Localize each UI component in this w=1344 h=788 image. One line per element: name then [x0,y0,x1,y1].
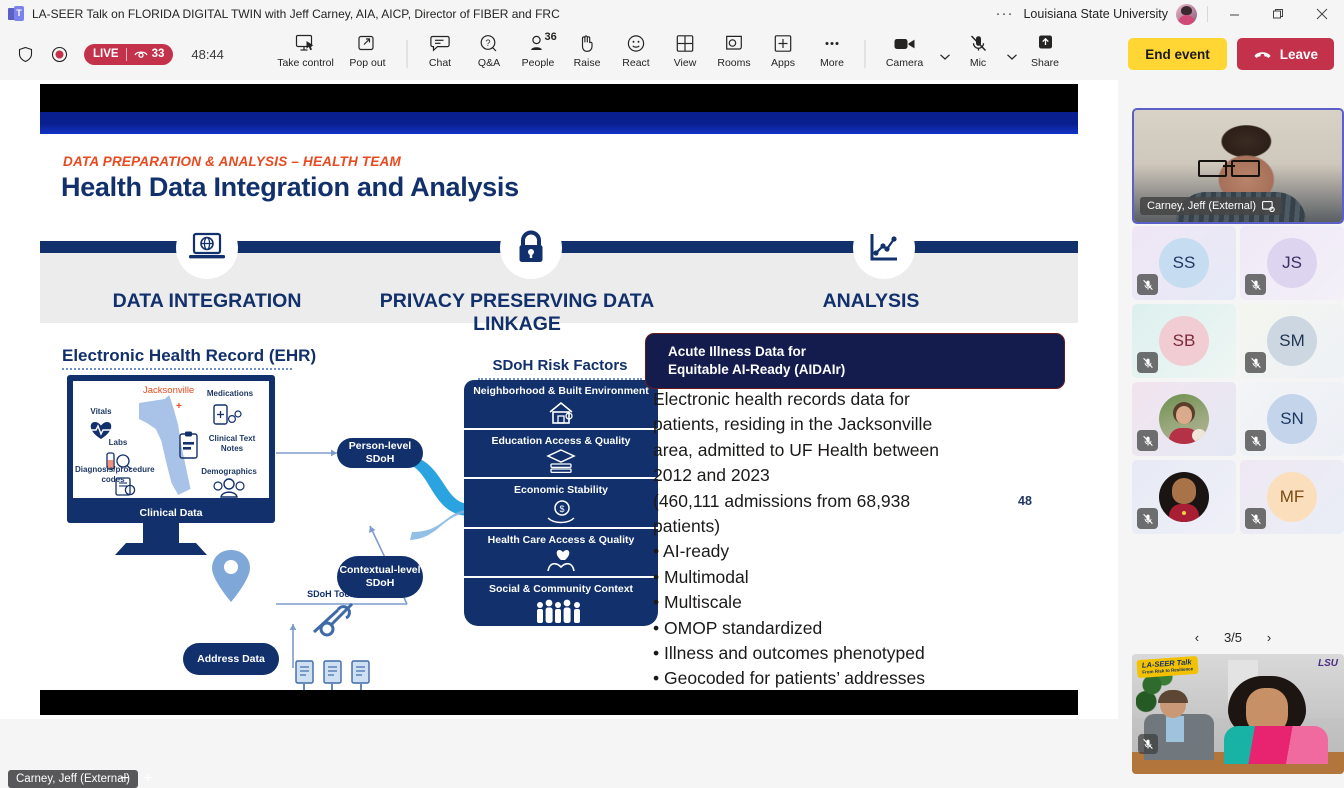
zoom-out-button[interactable]: − [120,770,129,788]
more-dots-icon [823,32,842,54]
sdoh-factor-economic: Economic Stability $ [464,479,658,527]
title-bar: T LA-SEER Talk on FLORIDA DIGITAL TWIN w… [0,0,1344,28]
qa-button[interactable]: ? Q&A [465,28,514,80]
live-badge[interactable]: LIVE 33 [84,44,173,65]
mic-muted-icon [1137,274,1158,295]
participant-row: SS JS [1132,226,1344,300]
participants-rail: Carney, Jeff (External) SS JS [1122,80,1344,719]
rooms-button[interactable]: Rooms [710,28,759,80]
sdoh-stack: Neighborhood & Built Environment Educati… [464,380,658,626]
toolbar-actions: Take control Pop out Chat ? Q&A [275,28,1070,80]
chat-label: Chat [429,57,451,69]
active-speaker-tile[interactable]: Carney, Jeff (External) [1132,108,1344,224]
raise-hand-button[interactable]: Raise [563,28,612,80]
svg-text:?: ? [485,38,490,48]
bullet-6: • Geocoded for patients’ addresses [653,666,1053,691]
participant-row: MF [1132,460,1344,534]
sdoh-toolkit-label: SDoH Toolkit [285,589,385,599]
avatar: SM [1267,316,1317,366]
bullet-label: OMOP standardized [664,618,822,638]
mic-muted-icon [1245,508,1266,529]
hangup-icon [1253,48,1272,60]
body-line-1: Electronic health records data for [653,387,1053,412]
mic-muted-icon [1138,734,1158,754]
sdoh-factor-label: Health Care Access & Quality [464,534,658,547]
meeting-toolbar: LIVE 33 48:44 Take control Pop ou [0,28,1344,80]
organization-label: Louisiana State University [1023,7,1176,21]
more-label: More [820,57,844,69]
avatar [1159,472,1209,522]
aidair-line-1: Acute Illness Data for [668,343,1064,361]
take-control-icon [295,32,316,54]
room-person-right [1224,676,1328,762]
screen-share-icon [1262,201,1275,212]
slide-page-number: 48 [1018,494,1032,508]
map-pin-icon [208,548,254,604]
pop-out-label: Pop out [349,57,385,69]
react-label: React [622,57,649,69]
bullet-1: • AI-ready [653,539,1053,564]
body-line-2: patients, residing in the Jacksonville [653,412,1053,437]
mic-muted-icon [1137,508,1158,529]
end-event-button[interactable]: End event [1128,38,1227,70]
camera-chevron-down-icon[interactable] [936,28,954,80]
leave-button[interactable]: Leave [1237,38,1334,70]
qa-label: Q&A [478,57,500,69]
share-button[interactable]: Share [1021,28,1070,80]
bullet-4: • OMOP standardized [653,616,1053,641]
aidair-line-2: Equitable AI-Ready (AIDAIr) [668,361,1064,379]
eye-icon [134,49,148,60]
hand-money-icon: $ [464,497,658,527]
mic-muted-icon [968,32,988,54]
qa-icon: ? [479,32,500,54]
raise-hand-icon [578,32,597,54]
react-icon [627,32,646,54]
sdoh-factor-label: Education Access & Quality [464,435,658,448]
zoom-controls: − + [120,770,153,788]
leave-label: Leave [1280,47,1318,62]
sdoh-factor-label: Economic Stability [464,484,658,497]
camera-button[interactable]: Camera [874,28,936,80]
avatar: JS [1267,238,1317,288]
camera-label: Camera [886,57,923,69]
share-up-icon [1035,32,1055,54]
rooms-label: Rooms [717,57,750,69]
people-group-icon [464,596,658,626]
body-line-5: (460,111 admissions from 68,938 [653,489,1053,514]
bullet-label: Multiscale [664,592,742,612]
mic-muted-icon [1137,352,1158,373]
mic-chevron-down-icon[interactable] [1003,28,1021,80]
pill-address-data: Address Data [183,643,279,675]
aidair-header-box: Acute Illness Data for Equitable AI-Read… [645,333,1065,389]
sdoh-factor-label: Social & Community Context [464,583,658,596]
speaker-name-text: Carney, Jeff (External) [1147,200,1256,212]
bullet-label: Illness and outcomes phenotyped [664,643,925,663]
sdoh-factor-label: Neighborhood & Built Environment [464,385,658,398]
avatar[interactable] [1176,4,1197,25]
title-overflow-icon[interactable]: ··· [985,9,1023,19]
people-button[interactable]: 36 People [514,28,563,80]
bullet-2: • Multimodal [653,565,1053,590]
bullet-label: Geocoded for patients’ addresses [664,668,925,688]
participant-tile[interactable] [1132,382,1236,456]
participant-tile[interactable]: SN [1240,382,1344,456]
speaker-name-label: Carney, Jeff (External) [1140,197,1282,215]
sdoh-factor-neighborhood: Neighborhood & Built Environment [464,380,658,428]
participant-tile[interactable] [1132,460,1236,534]
room-video-tile[interactable]: LA-SEER Talk From Risk to Resilience LSU [1132,654,1344,774]
svg-text:$: $ [559,504,564,514]
restore-icon[interactable] [1256,0,1300,28]
participant-tile[interactable]: SS [1132,226,1236,300]
pop-out-icon [358,32,378,54]
mic-muted-icon [1245,274,1266,295]
house-icon [464,398,658,428]
take-control-button[interactable]: Take control [275,28,337,80]
viewer-count: 33 [152,48,165,60]
pager-label: 3/5 [1224,630,1242,645]
divider [407,40,408,68]
bullet-label: AI-ready [663,541,729,561]
close-icon[interactable] [1300,0,1344,28]
apps-plus-icon [774,32,793,54]
participant-row: SB SM [1132,304,1344,378]
pager-next-icon[interactable]: › [1260,628,1278,646]
share-label: Share [1031,57,1059,69]
mic-label: Mic [970,57,986,69]
sdoh-title: SDoH Risk Factors [470,357,650,374]
presenter-name-chip: Carney, Jeff (External) [8,770,138,788]
participant-tile[interactable]: MF [1240,460,1344,534]
avatar: SN [1267,394,1317,444]
apps-button[interactable]: Apps [759,28,808,80]
mic-muted-icon [1137,430,1158,451]
share-letterbox-bottom [40,690,1078,715]
pop-out-button[interactable]: Pop out [337,28,399,80]
pill-person-level-sdoh: Person-level SDoH [337,438,423,468]
participant-tile[interactable]: SB [1132,304,1236,378]
live-label: LIVE [93,48,119,60]
aidair-body: Electronic health records data for patie… [653,387,1053,692]
divider [865,40,866,68]
bullet-label: Multimodal [664,567,749,587]
avatar: SS [1159,238,1209,288]
meeting-stage: DATA PREPARATION & ANALYSIS – HEALTH TEA… [0,80,1118,719]
meeting-timer: 48:44 [191,47,224,62]
people-count: 36 [545,31,557,43]
avatar: SB [1159,316,1209,366]
bullet-5: • Illness and outcomes phenotyped [653,641,1053,666]
participants-pager: ‹ 3/5 › [1122,628,1344,646]
public-databases-icon [284,657,384,692]
lsu-watermark: LSU [1318,658,1338,669]
record-icon[interactable] [44,39,74,69]
body-line-3: area, admitted to UF Health between [653,438,1053,463]
mic-muted-icon [1245,430,1266,451]
bullet-3: • Multiscale [653,590,1053,615]
react-button[interactable]: React [612,28,661,80]
avatar [1159,394,1209,444]
minimize-icon[interactable] [1212,0,1256,28]
people-label: People [522,57,555,69]
shared-screen[interactable]: DATA PREPARATION & ANALYSIS – HEALTH TEA… [40,84,1078,715]
teams-meeting-window: T LA-SEER Talk on FLORIDA DIGITAL TWIN w… [0,0,1344,719]
chat-icon [430,32,451,54]
more-button[interactable]: More [808,28,857,80]
view-grid-icon [676,32,695,54]
participant-tile[interactable]: JS [1240,226,1344,300]
participant-tile[interactable]: SM [1240,304,1344,378]
toolkit-icon [308,600,360,638]
hands-heart-icon [464,546,658,576]
graduation-books-icon [464,447,658,477]
apps-label: Apps [771,57,795,69]
divider [126,48,127,61]
teams-logo-icon: T [8,6,24,22]
view-button[interactable]: View [661,28,710,80]
glasses-icon [1198,160,1260,173]
body-line-6: patients) [653,514,1053,539]
shield-icon[interactable] [10,39,40,69]
avatar: MF [1267,472,1317,522]
mic-muted-icon [1245,352,1266,373]
sdoh-factor-healthcare: Health Care Access & Quality [464,529,658,577]
body-line-4: 2012 and 2023 [653,463,1053,488]
window-title: LA-SEER Talk on FLORIDA DIGITAL TWIN wit… [32,7,560,21]
take-control-label: Take control [277,57,334,69]
camera-on-icon [893,32,916,54]
participant-row: SN [1132,382,1344,456]
viewer-count-group: 33 [134,48,165,60]
raise-label: Raise [574,57,601,69]
chat-button[interactable]: Chat [416,28,465,80]
pager-prev-icon[interactable]: ‹ [1188,628,1206,646]
divider [1207,6,1208,22]
presentation-slide: DATA PREPARATION & ANALYSIS – HEALTH TEA… [40,112,1078,692]
rooms-icon [725,32,744,54]
view-label: View [674,57,697,69]
zoom-in-button[interactable]: + [143,770,152,788]
mic-button[interactable]: Mic [954,28,1003,80]
sdoh-factor-social: Social & Community Context [464,578,658,626]
sdoh-factor-education: Education Access & Quality [464,430,658,478]
participant-grid: SS JS SB [1132,226,1344,538]
